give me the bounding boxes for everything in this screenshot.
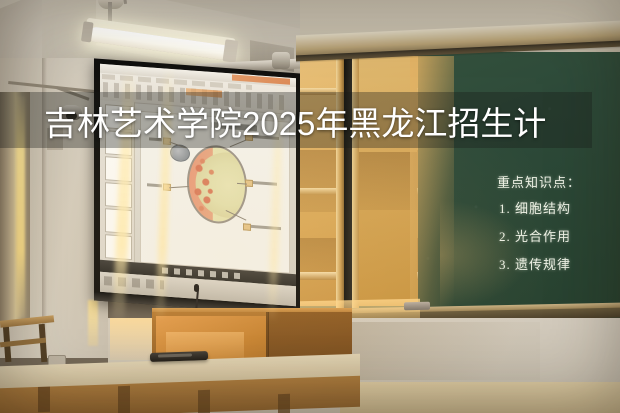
cell-diagram (187, 143, 247, 225)
chalk-line-3: 3. 遗传规律 (499, 254, 615, 273)
chalk-line-2: 2. 光合作用 (499, 226, 615, 245)
microphone-icon (194, 284, 199, 292)
classroom-photo: 重点知识点： 1. 细胞结构 2. 光合作用 3. 遗传规律 吉林艺术学院202… (0, 0, 620, 413)
wall-sunlight-streak (88, 300, 98, 346)
diagram-leader-line (169, 186, 189, 188)
stage-vent-gap (118, 386, 130, 413)
stage-vent-gap (198, 390, 210, 413)
diagram-callout (243, 223, 251, 231)
chalk-heading: 重点知识点： (497, 172, 615, 191)
chalk-line-1: 1. 细胞结构 (499, 198, 615, 217)
lower-wall-shadow (340, 322, 540, 380)
cell-granules (189, 145, 245, 223)
floor (340, 382, 620, 413)
projector-screen-bracket (272, 52, 290, 69)
panel-window-shadow (359, 152, 417, 210)
blackboard-eraser (404, 302, 430, 311)
chalk-notes: 重点知识点： 1. 细胞结构 2. 光合作用 3. 遗传规律 (495, 172, 615, 292)
stage-vent-gap (278, 394, 290, 413)
page-title: 吉林艺术学院2025年黑龙江招生计 (44, 104, 620, 148)
